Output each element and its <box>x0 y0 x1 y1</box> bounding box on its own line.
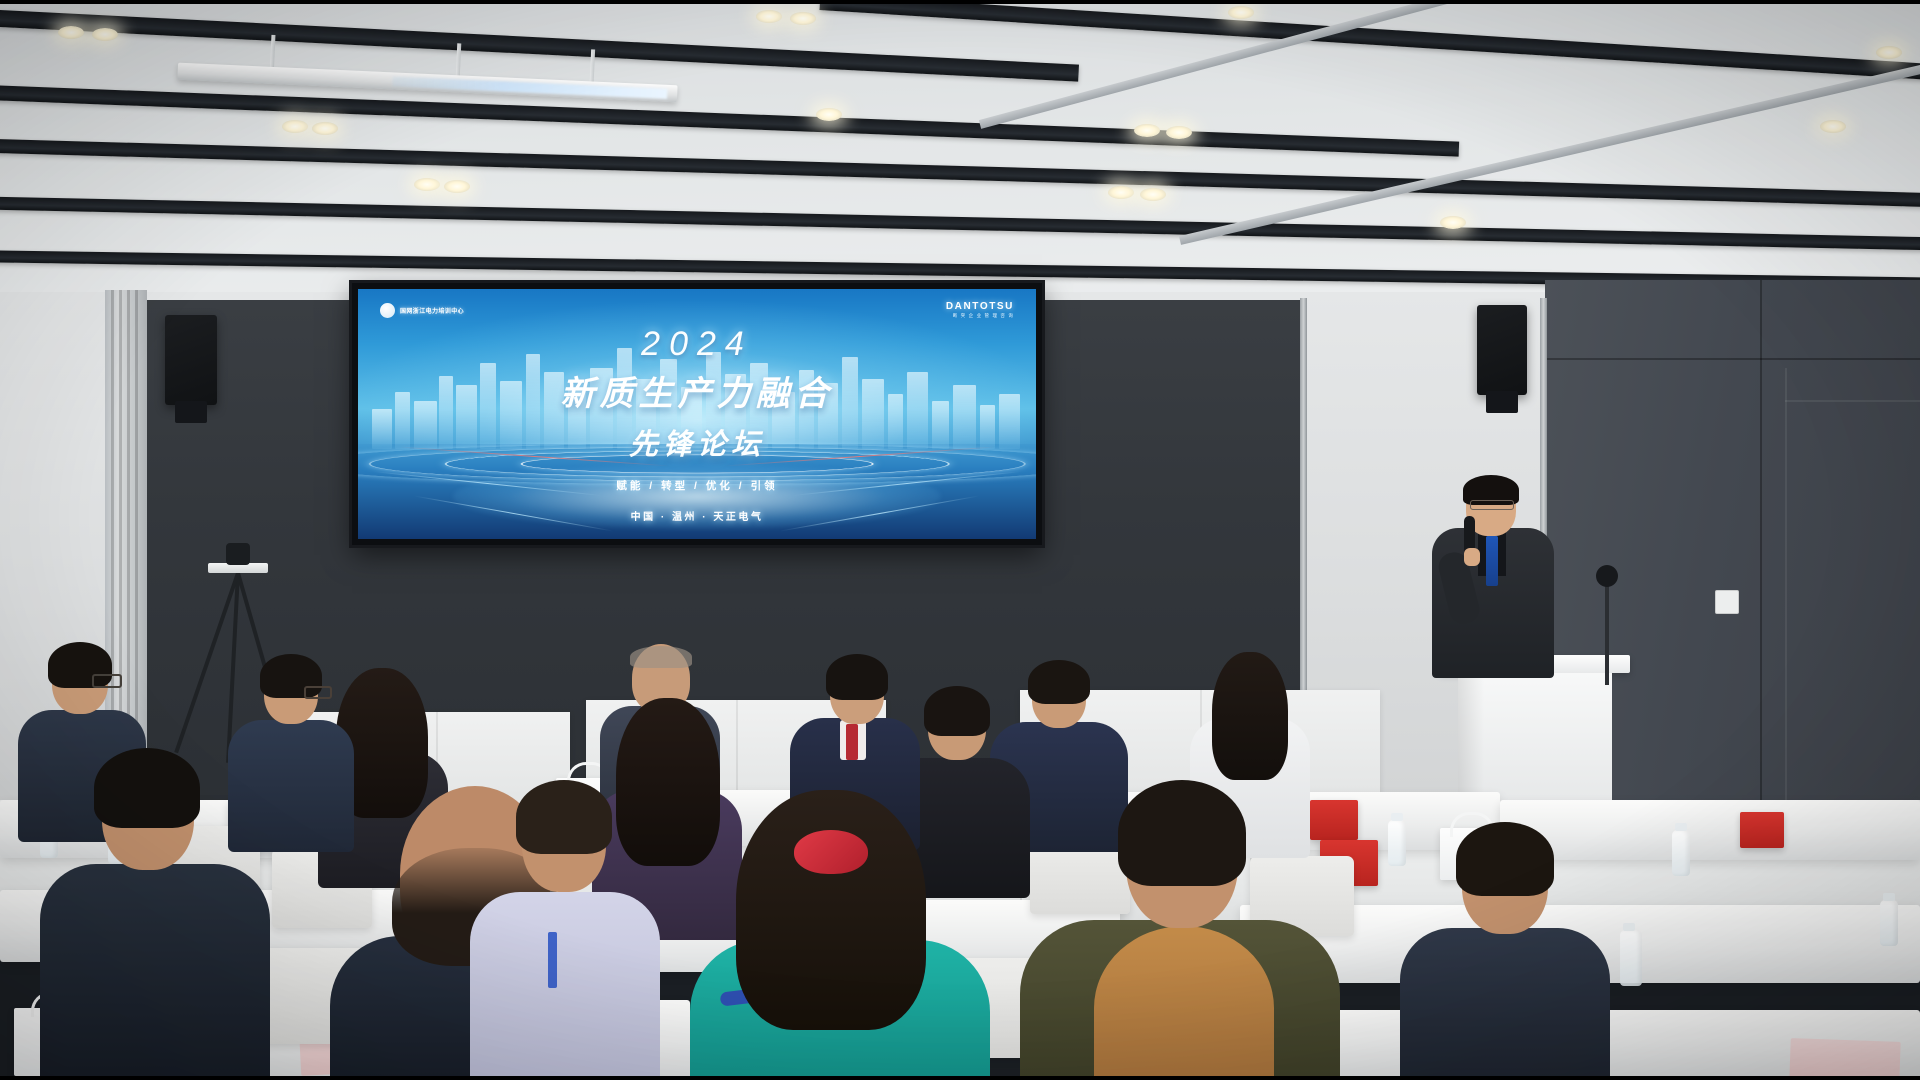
bottle-cap <box>1623 923 1635 931</box>
screen-year: 2024 <box>641 325 753 364</box>
lamp-rod <box>456 43 462 77</box>
presenter-hand <box>1464 548 1480 566</box>
attendee-hair <box>826 654 888 700</box>
attendee-hair <box>516 780 612 854</box>
bottle-cap <box>1883 893 1895 901</box>
screen-location-line: 中国 · 温州 · 天正电气 <box>358 508 1036 523</box>
ceiling-strip <box>0 138 1920 208</box>
letterbox-bar <box>0 0 1920 4</box>
water-bottle <box>1672 830 1690 876</box>
screen-headline-secondary: 先锋论坛 <box>629 421 765 463</box>
attendee-hair <box>1212 652 1288 780</box>
downlight-icon <box>414 178 440 191</box>
attendee-hair <box>1118 780 1246 886</box>
downlight-icon <box>312 122 338 135</box>
wall-speaker <box>165 315 217 405</box>
wall-speaker <box>1477 305 1527 395</box>
ceiling-strip <box>0 196 1920 251</box>
downlight-icon <box>1166 126 1192 139</box>
panel-seam <box>1785 400 1920 402</box>
downlight-icon <box>1876 46 1902 59</box>
downlight-icon <box>1228 6 1254 19</box>
eyeglasses-icon <box>1470 500 1514 510</box>
downlight-icon <box>1140 188 1166 201</box>
led-screen[interactable]: 国网浙江电力培训中心 DANTOTSU 断 突 企 业 管 理 咨 询 2024… <box>352 283 1042 545</box>
floor-microphone <box>1605 575 1609 685</box>
downlight-icon <box>756 10 782 23</box>
led-screen-content: 国网浙江电力培训中心 DANTOTSU 断 突 企 业 管 理 咨 询 2024… <box>358 289 1036 539</box>
panel-seam <box>1760 280 1762 825</box>
attendee-torso <box>1400 928 1610 1080</box>
attendee-torso <box>40 864 270 1080</box>
camera-icon <box>226 543 250 565</box>
conference-hall-scene: 国网浙江电力培训中心 DANTOTSU 断 突 企 业 管 理 咨 询 2024… <box>0 0 1920 1080</box>
power-outlet <box>1715 590 1739 614</box>
attendee-lavender-shirt <box>470 782 660 1080</box>
letterbox-bar <box>0 1076 1920 1080</box>
lamp-rod <box>270 35 276 69</box>
downlight-icon <box>816 108 842 121</box>
attendee-red-tie <box>846 724 858 760</box>
downlight-icon <box>1134 124 1160 137</box>
attendee-hair <box>630 646 692 668</box>
panel-seam <box>1785 368 1787 825</box>
downlight-icon <box>1820 120 1846 133</box>
screen-tagline: 赋能 / 转型 / 优化 / 引领 <box>358 478 1036 493</box>
lamp-rod <box>590 49 596 83</box>
panel-seam <box>1545 358 1920 360</box>
microphone-head-icon <box>1596 565 1618 587</box>
speaker-mount <box>1486 391 1518 413</box>
water-bottle <box>1620 930 1642 986</box>
eyeglasses-icon <box>304 686 332 699</box>
downlight-icon <box>58 26 84 39</box>
presenter-tie <box>1486 536 1498 586</box>
attendee-hair <box>1456 822 1554 896</box>
attendee-far-right <box>1400 822 1610 1080</box>
water-bottle <box>1880 900 1898 946</box>
hair-bow-icon <box>794 830 868 874</box>
jacket-hood <box>1094 926 1274 1080</box>
downlight-icon <box>282 120 308 133</box>
downlight-icon <box>1108 186 1134 199</box>
downlight-icon <box>1440 216 1466 229</box>
attendee-hair <box>94 748 200 828</box>
attendee-olive-jacket <box>1020 780 1340 1080</box>
speaker-mount <box>175 401 207 423</box>
attendee-hair <box>924 686 990 736</box>
attendee-hair <box>1028 660 1090 704</box>
screen-title-block: 2024 新质生产力融合 先锋论坛 <box>358 289 1036 539</box>
bottle-cap <box>1675 823 1687 831</box>
downlight-icon <box>92 28 118 41</box>
attendee-torso <box>470 892 660 1080</box>
bottle-cap <box>1391 813 1403 821</box>
notepad <box>1789 1038 1900 1080</box>
ceiling <box>0 0 1920 300</box>
lanyard <box>548 932 557 988</box>
attendee-teal-hoodie <box>690 790 990 1080</box>
ceiling-beam <box>1179 56 1920 245</box>
speaker-at-podium <box>1428 478 1558 678</box>
downlight-icon <box>444 180 470 193</box>
attendee-hair <box>736 790 926 1030</box>
eyeglasses-icon <box>92 674 122 688</box>
screen-headline-primary: 新质生产力融合 <box>561 366 834 415</box>
attendee-front-left-suit <box>40 752 270 1080</box>
red-gift-box <box>1740 812 1784 848</box>
downlight-icon <box>790 12 816 25</box>
